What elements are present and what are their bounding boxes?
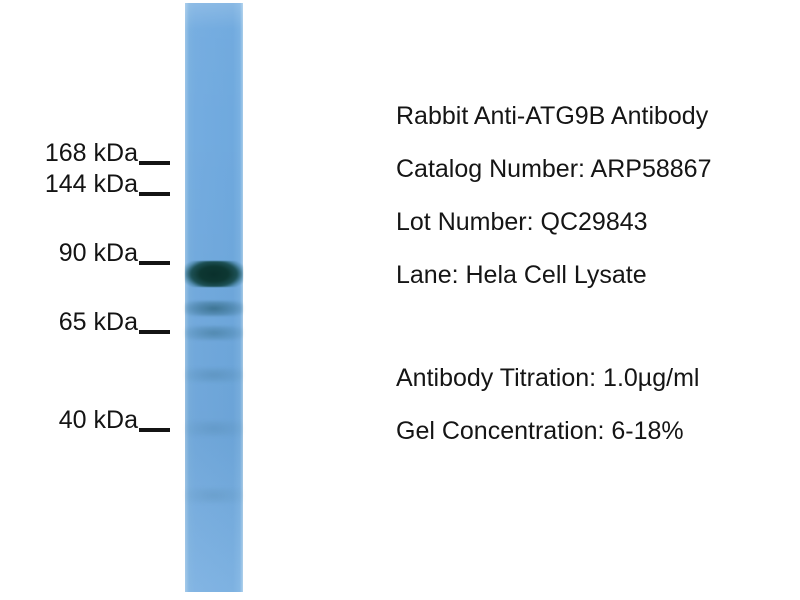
antibody-titration: Antibody Titration: 1.0µg/ml (396, 352, 792, 405)
antibody-name: Rabbit Anti-ATG9B Antibody (396, 90, 792, 143)
western-blot-figure: 168 kDa 144 kDa 90 kDa 65 kDa 40 kDa Rab… (0, 0, 800, 600)
blot-band-faint-4 (185, 421, 243, 436)
blot-band-faint-2 (185, 326, 243, 340)
lot-number: Lot Number: QC29843 (396, 196, 792, 249)
marker-label-65: 65 kDa (59, 308, 138, 337)
marker-144: 144 kDa (0, 170, 170, 199)
marker-90: 90 kDa (0, 239, 170, 268)
marker-65: 65 kDa (0, 308, 170, 337)
marker-tick-144 (139, 192, 170, 196)
catalog-number: Catalog Number: ARP58867 (396, 143, 792, 196)
marker-168: 168 kDa (0, 139, 170, 168)
blot-lane (185, 3, 243, 592)
marker-label-144: 144 kDa (45, 170, 138, 199)
marker-40: 40 kDa (0, 406, 170, 435)
marker-tick-65 (139, 330, 170, 334)
marker-label-90: 90 kDa (59, 239, 138, 268)
marker-tick-168 (139, 161, 170, 165)
gel-concentration: Gel Concentration: 6-18% (396, 405, 792, 458)
marker-tick-40 (139, 428, 170, 432)
blot-band-faint-3 (185, 368, 243, 382)
blot-band-faint-5 (185, 488, 243, 503)
lane-description: Lane: Hela Cell Lysate (396, 249, 792, 302)
blot-band-primary (185, 261, 243, 287)
marker-label-40: 40 kDa (59, 406, 138, 435)
marker-label-168: 168 kDa (45, 139, 138, 168)
blot-band-faint-1 (185, 301, 243, 316)
blot-annotation-block: Rabbit Anti-ATG9B Antibody Catalog Numbe… (396, 90, 792, 458)
marker-tick-90 (139, 261, 170, 265)
